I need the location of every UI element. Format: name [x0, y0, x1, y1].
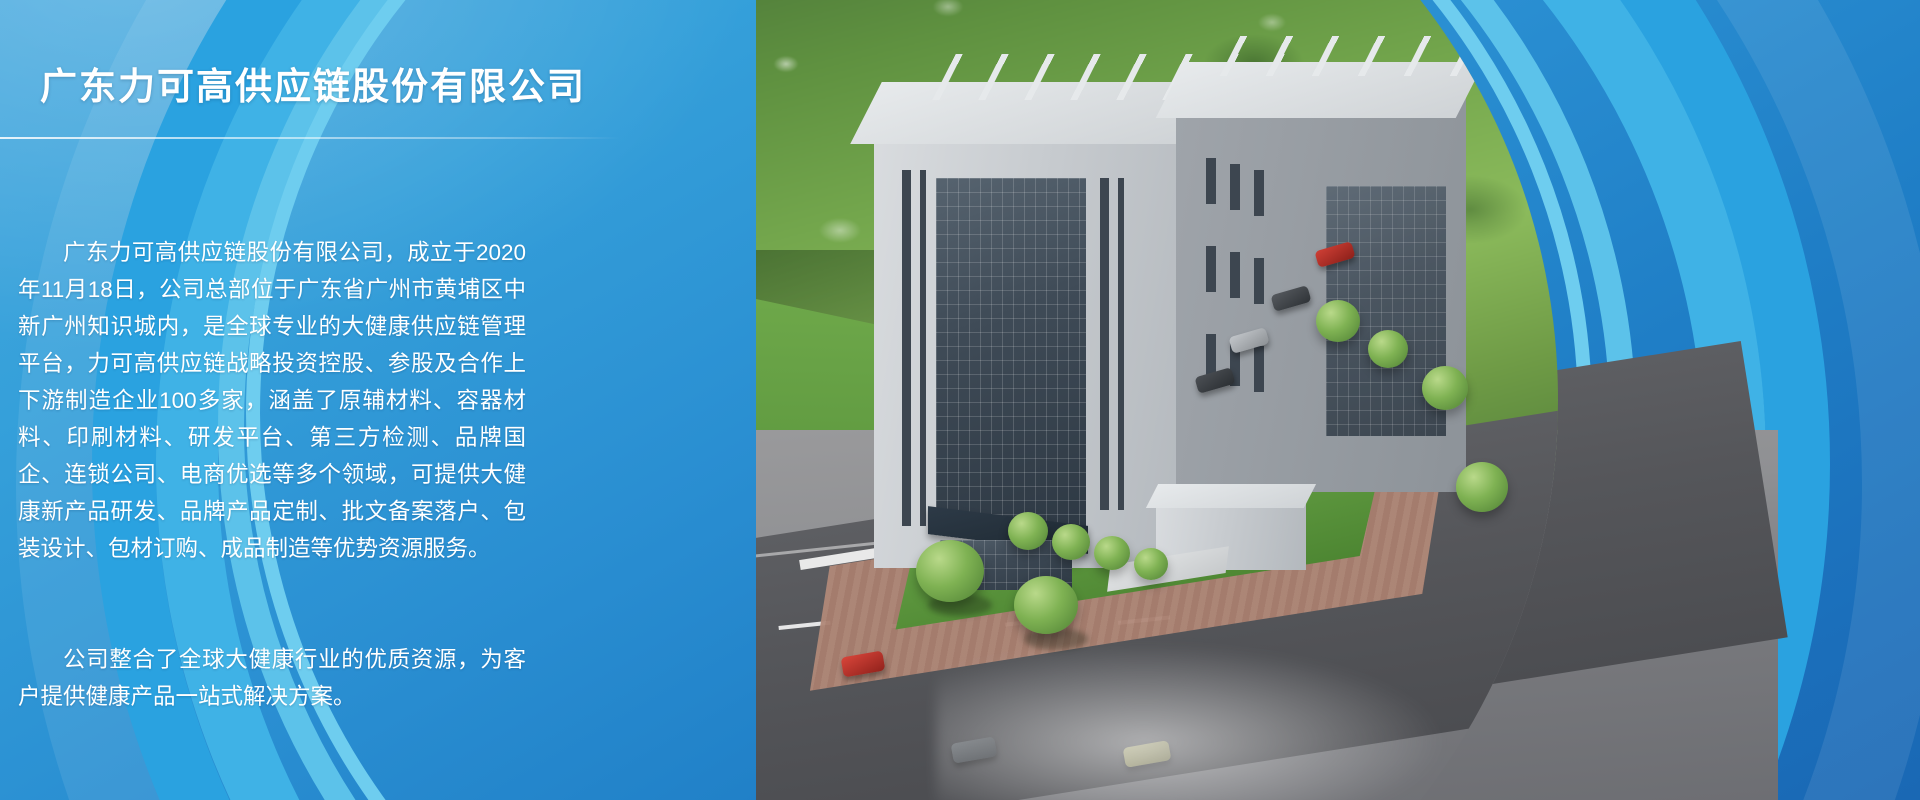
window-slit: [1230, 164, 1240, 210]
tree: [1368, 330, 1408, 368]
window-slit: [1254, 170, 1264, 216]
tree: [1094, 536, 1130, 570]
description-paragraph-2: 公司整合了全球大健康行业的优质资源，为客户提供健康产品一站式解决方案。: [18, 641, 526, 715]
tree-crown: [1422, 366, 1468, 410]
tree-crown: [1316, 300, 1360, 342]
annex-roof: [1146, 484, 1316, 508]
company-title: 广东力可高供应链股份有限公司: [40, 56, 586, 110]
building-curtain-wall: [936, 178, 1086, 526]
architectural-rendering: [756, 0, 1558, 800]
tree-crown: [1134, 548, 1168, 580]
tree-crown: [1014, 576, 1078, 634]
title-divider: [0, 137, 620, 139]
facade-slit: [1100, 178, 1109, 510]
office-building-main: [874, 120, 1192, 568]
building-photo: [756, 0, 1558, 800]
tree: [1134, 548, 1168, 580]
tree-crown: [1368, 330, 1408, 368]
office-building-secondary: [1176, 96, 1466, 492]
facade-slit: [920, 170, 926, 526]
tree-crown: [916, 540, 984, 602]
tree-crown: [1052, 524, 1090, 560]
company-description: 广东力可高供应链股份有限公司，成立于2020年11月18日，公司总部位于广东省广…: [18, 160, 526, 789]
window-slit: [1254, 346, 1264, 392]
facade-slit: [902, 170, 911, 526]
window-slit: [1206, 158, 1216, 204]
banner-stage: 广东力可高供应链股份有限公司 广东力可高供应链股份有限公司，成立于2020年11…: [0, 0, 1920, 800]
tree-crown: [1456, 462, 1508, 512]
tree: [916, 540, 984, 602]
window-slit: [1206, 246, 1216, 292]
tree: [1008, 512, 1048, 550]
facade-slit: [1118, 178, 1124, 510]
rooftop-pergola-secondary: [1220, 36, 1540, 76]
tree: [1014, 576, 1078, 634]
info-panel: 广东力可高供应链股份有限公司 广东力可高供应链股份有限公司，成立于2020年11…: [0, 0, 640, 800]
window-slit: [1254, 258, 1264, 304]
tree-crown: [1008, 512, 1048, 550]
tree: [1422, 366, 1468, 410]
tree: [1316, 300, 1360, 342]
tree: [1456, 462, 1508, 512]
window-slit: [1230, 252, 1240, 298]
description-paragraph-1: 广东力可高供应链股份有限公司，成立于2020年11月18日，公司总部位于广东省广…: [18, 234, 526, 567]
ground-haze: [936, 640, 1456, 800]
tree-crown: [1094, 536, 1130, 570]
tree: [1052, 524, 1090, 560]
